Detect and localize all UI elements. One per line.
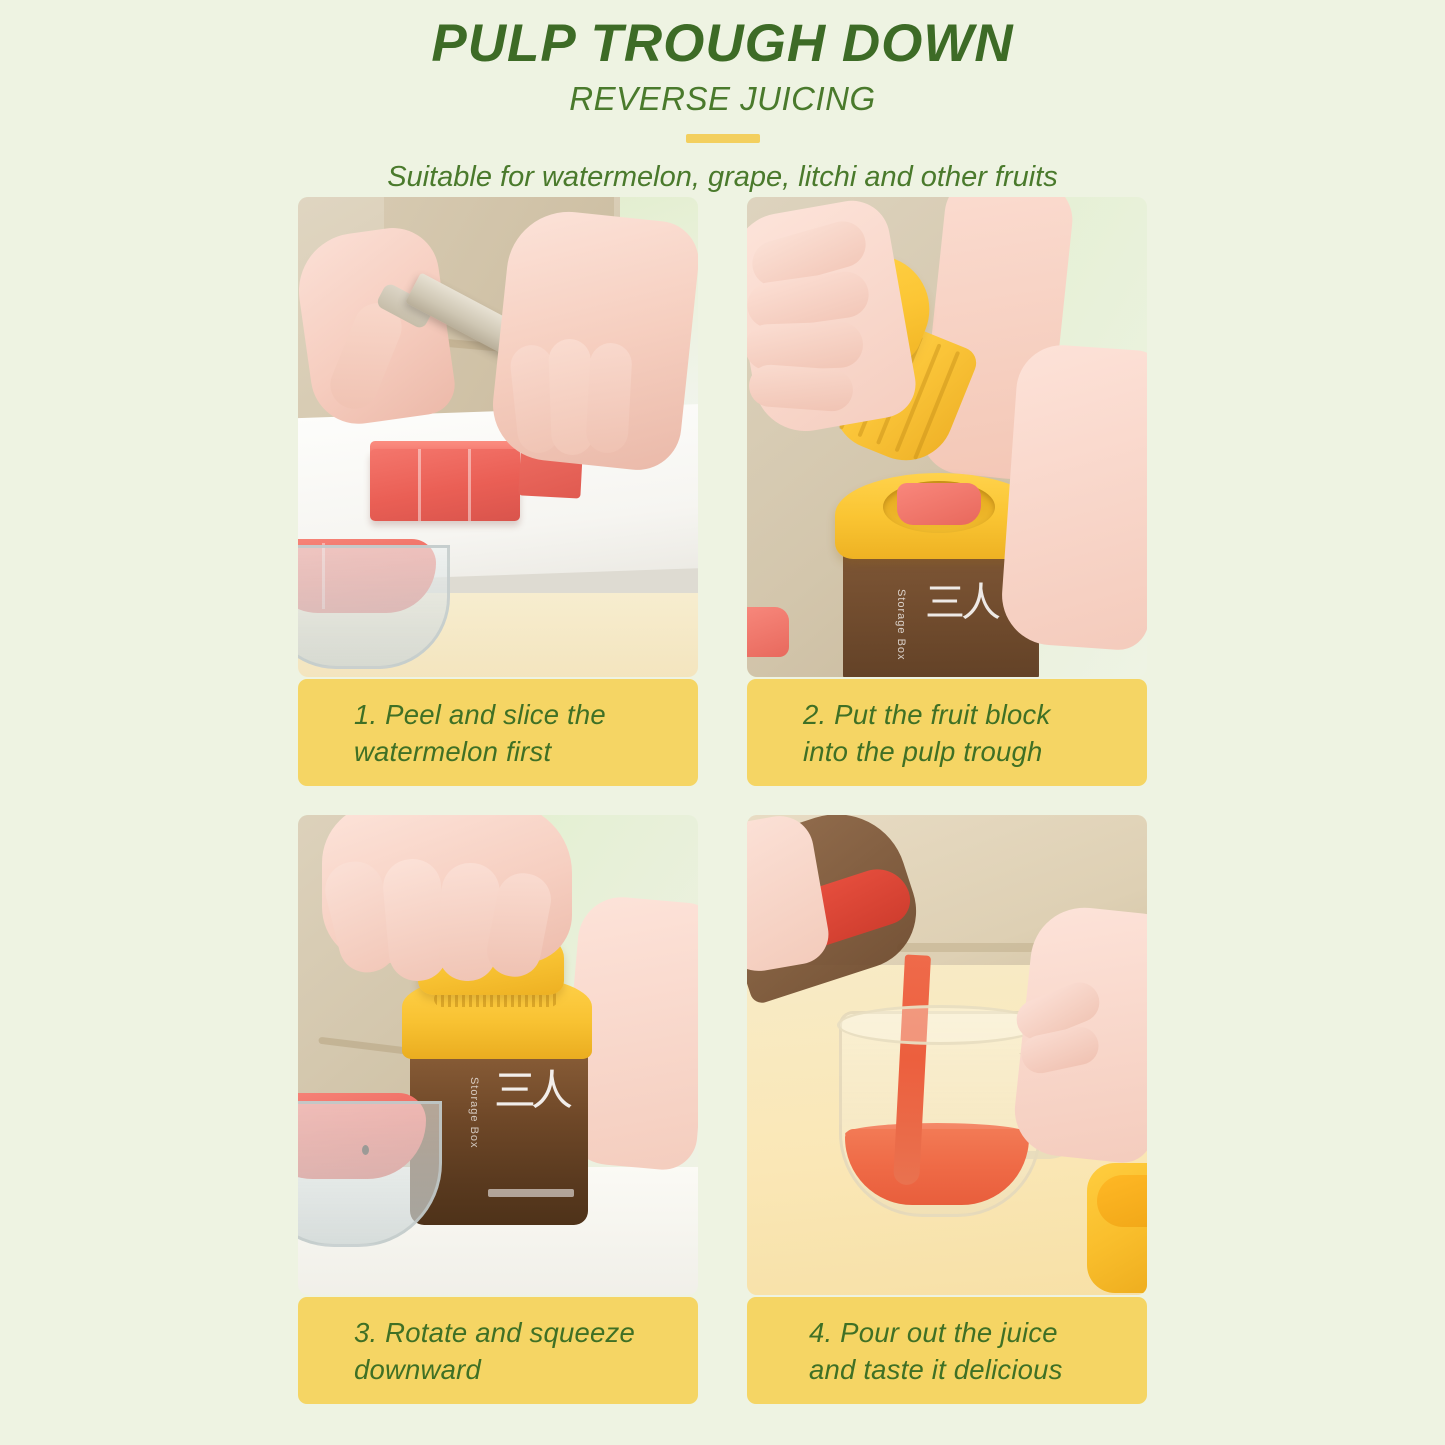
- left-hand-finger-shape: [747, 321, 864, 371]
- step-photo-4: 三人: [747, 815, 1147, 1295]
- step-photo-2: Storage Box 三人: [747, 197, 1147, 677]
- step-card-2: Storage Box 三人 2. Put the fruit block: [747, 197, 1147, 786]
- juicer-lid-corner-shape: [1087, 1163, 1147, 1293]
- steps-grid: 1. Peel and slice the watermelon first S…: [298, 197, 1147, 1397]
- right-hand-shape: [999, 342, 1147, 652]
- watermelon-in-trough-shape: [897, 483, 981, 525]
- page-subtitle: REVERSE JUICING: [0, 73, 1445, 117]
- step-card-1: 1. Peel and slice the watermelon first: [298, 197, 698, 786]
- step-caption-3-line2: downward: [354, 1352, 698, 1389]
- glass-mug-rim-shape: [837, 1005, 1043, 1045]
- jar-footer-text-shape: [488, 1189, 574, 1197]
- step-caption-4-line2: and taste it delicious: [809, 1352, 1147, 1389]
- storage-box-label: Storage Box: [468, 1077, 480, 1149]
- step-caption-2: 2. Put the fruit block into the pulp tro…: [747, 679, 1147, 786]
- step-caption-1-line1: 1. Peel and slice the: [354, 697, 698, 734]
- pressing-finger-shape: [381, 857, 449, 984]
- step-caption-3-line1: 3. Rotate and squeeze: [354, 1315, 698, 1352]
- step-caption-1-line2: watermelon first: [354, 734, 698, 771]
- jar-logo-glyph: 三人: [494, 1073, 584, 1177]
- step-photo-1: [298, 197, 698, 677]
- step-card-3: Storage Box 三人 3. Rotate and squeeze dow…: [298, 815, 698, 1404]
- step-caption-2-line1: 2. Put the fruit block: [803, 697, 1147, 734]
- step-caption-2-line2: into the pulp trough: [803, 734, 1147, 771]
- step-caption-3: 3. Rotate and squeeze downward: [298, 1297, 698, 1404]
- right-hand-finger-shape: [585, 342, 633, 454]
- storage-box-label: Storage Box: [895, 589, 907, 661]
- divider-wrapper: [0, 118, 1445, 148]
- watermelon-cubes-shape: [370, 449, 520, 521]
- yellow-divider-bar: [686, 134, 760, 143]
- header: PULP TROUGH DOWN REVERSE JUICING Suitabl…: [0, 0, 1445, 194]
- page-title: PULP TROUGH DOWN: [0, 0, 1445, 73]
- step-caption-4-line1: 4. Pour out the juice: [809, 1315, 1147, 1352]
- page-tagline: Suitable for watermelon, grape, litchi a…: [0, 148, 1445, 194]
- step-card-4: 三人 4. Pour out the juice and taste it de…: [747, 815, 1147, 1404]
- step-caption-4: 4. Pour out the juice and taste it delic…: [747, 1297, 1147, 1404]
- watermelon-piece-shape: [747, 607, 789, 657]
- step-caption-1: 1. Peel and slice the watermelon first: [298, 679, 698, 786]
- left-hand-finger-shape: [748, 363, 855, 412]
- step-photo-3: Storage Box 三人: [298, 815, 698, 1295]
